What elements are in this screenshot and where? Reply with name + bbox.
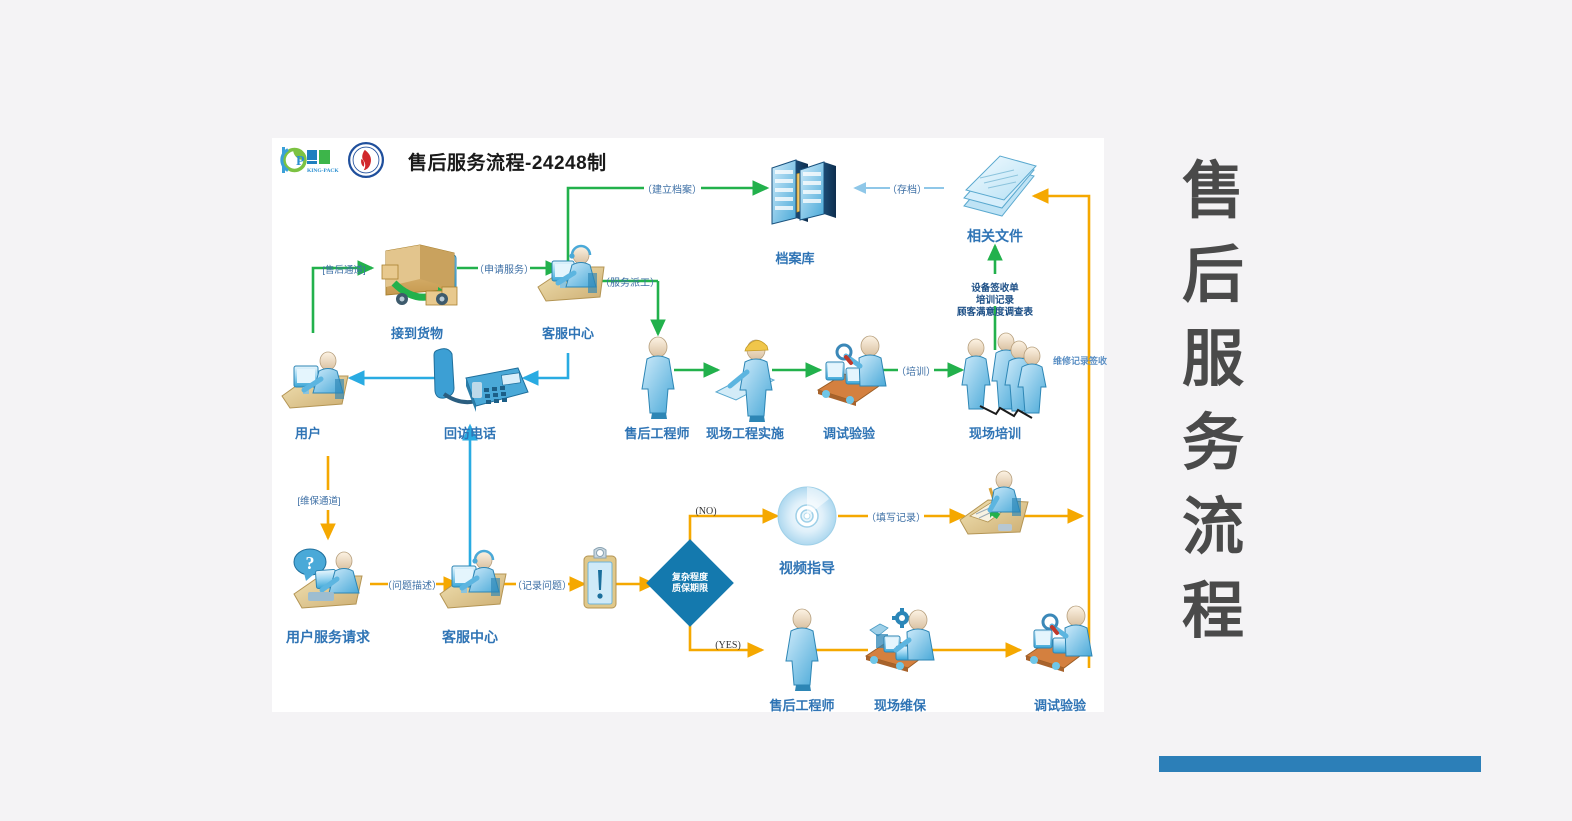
delivery-truck-icon	[382, 245, 457, 305]
node-caption-after-sales-engineer-2: 售后工程师	[769, 695, 834, 714]
edge-label-record-problem: （记录问题）	[512, 577, 572, 592]
engineer-person-icon	[642, 337, 674, 419]
repair-bench-icon	[866, 608, 934, 672]
vertical-headline-char-5: 流	[1168, 486, 1258, 570]
edge-label-apply-service: （申请服务）	[474, 261, 534, 276]
clipboard-alert-icon	[584, 548, 616, 609]
training-group-icon	[962, 333, 1046, 418]
edge-label-create-archive: （建立档案）	[642, 181, 702, 196]
edge-label-service-dispatch: （服务派工）	[600, 274, 660, 289]
vertical-headline-char-6: 程	[1168, 570, 1258, 654]
desk-writing-icon	[960, 471, 1028, 534]
edge-label-after-sales-channel: [售后通道]	[322, 262, 365, 276]
user-question-icon: ?	[294, 549, 362, 608]
node-caption-receive-goods: 接到货物	[391, 323, 443, 342]
edge-label-problem-description: （问题描述）	[382, 577, 442, 592]
user-desk-icon	[282, 352, 348, 408]
node-caption-commission-test-2: 调试验验	[1034, 695, 1086, 714]
node-caption-archive-library: 档案库	[775, 248, 814, 267]
server-rack-icon	[772, 160, 836, 224]
service-agent-icon	[440, 551, 506, 608]
node-caption-user-service-request: 用户服务请求	[286, 627, 370, 647]
document-list-line-1: 设备签收单	[957, 283, 1033, 295]
inspection-icon	[1026, 606, 1092, 672]
flowchart-panel: P KING-PACK 售后服务流程-24248制	[272, 138, 1104, 712]
inspection-icon	[818, 336, 886, 406]
node-caption-after-sales-engineer: 售后工程师	[624, 423, 689, 442]
node-caption-onsite-training: 现场培训	[969, 423, 1021, 442]
vertical-headline-char-3: 服	[1168, 318, 1258, 402]
vertical-headline: 售 后 服 务 流 程	[1168, 150, 1258, 654]
vertical-headline-char-2: 后	[1168, 234, 1258, 318]
node-caption-service-center-bottom: 客服中心	[442, 627, 498, 647]
site-worker-icon	[716, 340, 774, 422]
node-caption-user: 用户	[295, 423, 321, 442]
related-documents-list: 设备签收单 培训记录 顾客满意度调查表	[957, 283, 1033, 319]
edge-label-maintenance-channel: [维保通道]	[297, 493, 340, 507]
decision-label-line2: 质保期限	[672, 583, 708, 594]
accent-bar	[1159, 756, 1481, 772]
node-caption-related-documents: 相关文件	[967, 226, 1023, 246]
telephone-icon	[434, 349, 528, 412]
edge-label-training: （培训）	[896, 363, 936, 378]
svg-text:?: ?	[306, 553, 315, 573]
node-caption-commission-test: 调试验验	[823, 423, 875, 442]
edge-label-archive-store: （存档）	[887, 181, 927, 196]
engineer-person-icon	[786, 609, 818, 691]
vertical-headline-char-1: 售	[1168, 150, 1258, 234]
documents-stack-icon	[964, 156, 1036, 216]
vertical-headline-char-4: 务	[1168, 402, 1258, 486]
decision-label: 复杂程度 质保期限	[672, 572, 708, 594]
service-agent-icon	[538, 246, 604, 301]
decision-label-line1: 复杂程度	[672, 572, 708, 583]
node-caption-onsite-maintenance: 现场维保	[874, 695, 926, 714]
edge-label-yes: (YES)	[715, 640, 741, 651]
edge-label-write-record: （填写记录）	[866, 509, 926, 524]
edge-label-no: (NO)	[695, 506, 716, 517]
node-caption-service-center-top: 客服中心	[542, 323, 594, 342]
document-list-line-2: 培训记录	[957, 295, 1033, 307]
node-caption-video-guidance: 视频指导	[779, 558, 835, 578]
document-list-line-3: 顾客满意度调查表	[957, 307, 1033, 319]
edge-label-repair-record-signoff: 维修记录签收	[1053, 354, 1107, 367]
node-caption-callback-phone: 回访电话	[444, 423, 496, 442]
node-caption-site-engineering: 现场工程实施	[706, 423, 784, 442]
cd-disc-icon	[778, 487, 836, 545]
